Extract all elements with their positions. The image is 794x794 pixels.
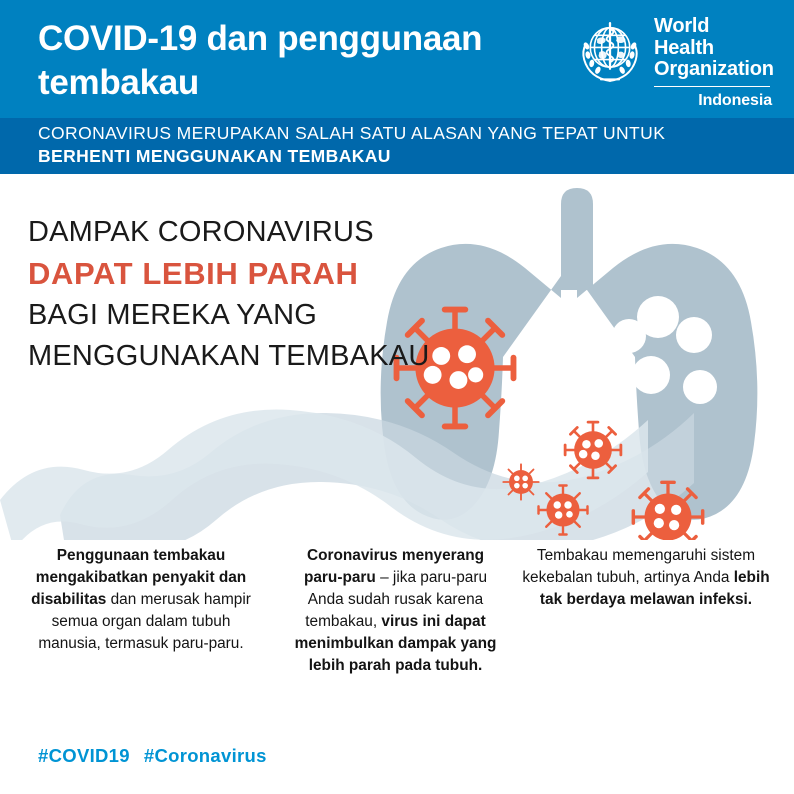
- column-coronavirus-lungs: Coronavirus menyerang paru-paru – jika p…: [288, 545, 503, 677]
- column-immune-system: Tembakau memengaruhi sistem kekebalan tu…: [522, 545, 770, 611]
- fact-columns: Penggunaan tembakau mengakibatkan penyak…: [0, 545, 794, 735]
- headline-line-3: BAGI MEREKA YANG: [28, 295, 468, 336]
- virus-particle-medium-top: [565, 422, 621, 478]
- who-emblem-icon: [572, 14, 648, 90]
- column-tobacco-disease: Penggunaan tembakau mengakibatkan penyak…: [22, 545, 260, 655]
- headline-accent: DAPAT LEBIH PARAH: [28, 253, 468, 294]
- subheader-line-1: CORONAVIRUS MERUPAKAN SALAH SATU ALASAN …: [38, 123, 665, 144]
- who-wordmark: World Health Organization Indonesia: [654, 16, 772, 110]
- hashtag-coronavirus[interactable]: #Coronavirus: [144, 745, 267, 766]
- who-logo: World Health Organization Indonesia: [572, 12, 772, 110]
- headline-block: DAMPAK CORONAVIRUS DAPAT LEBIH PARAH BAG…: [28, 212, 468, 378]
- wave-ribbon-group: [0, 410, 694, 541]
- page-title: COVID-19 dan penggunaan tembakau: [38, 17, 598, 105]
- headline-line-4: MENGGUNAKAN TEMBAKAU: [28, 336, 468, 377]
- infographic-poster: COVID-19 dan penggunaan tembakau: [0, 0, 794, 794]
- virus-particle-small-left: [503, 464, 538, 499]
- hashtag-covid19[interactable]: #COVID19: [38, 745, 130, 766]
- who-line-2: Organization: [654, 59, 772, 81]
- subheader-band: CORONAVIRUS MERUPAKAN SALAH SATU ALASAN …: [0, 118, 794, 174]
- header-band: COVID-19 dan penggunaan tembakau: [0, 0, 794, 118]
- virus-particle-mid-left: [539, 486, 588, 535]
- who-line-1: World Health: [654, 16, 772, 59]
- who-divider: [654, 86, 770, 87]
- headline-line-1: DAMPAK CORONAVIRUS: [28, 212, 468, 253]
- subheader-line-2: BERHENTI MENGGUNAKAN TEMBAKAU: [38, 146, 391, 167]
- hashtag-row: #COVID19#Coronavirus: [38, 745, 281, 767]
- who-country-label: Indonesia: [654, 92, 772, 110]
